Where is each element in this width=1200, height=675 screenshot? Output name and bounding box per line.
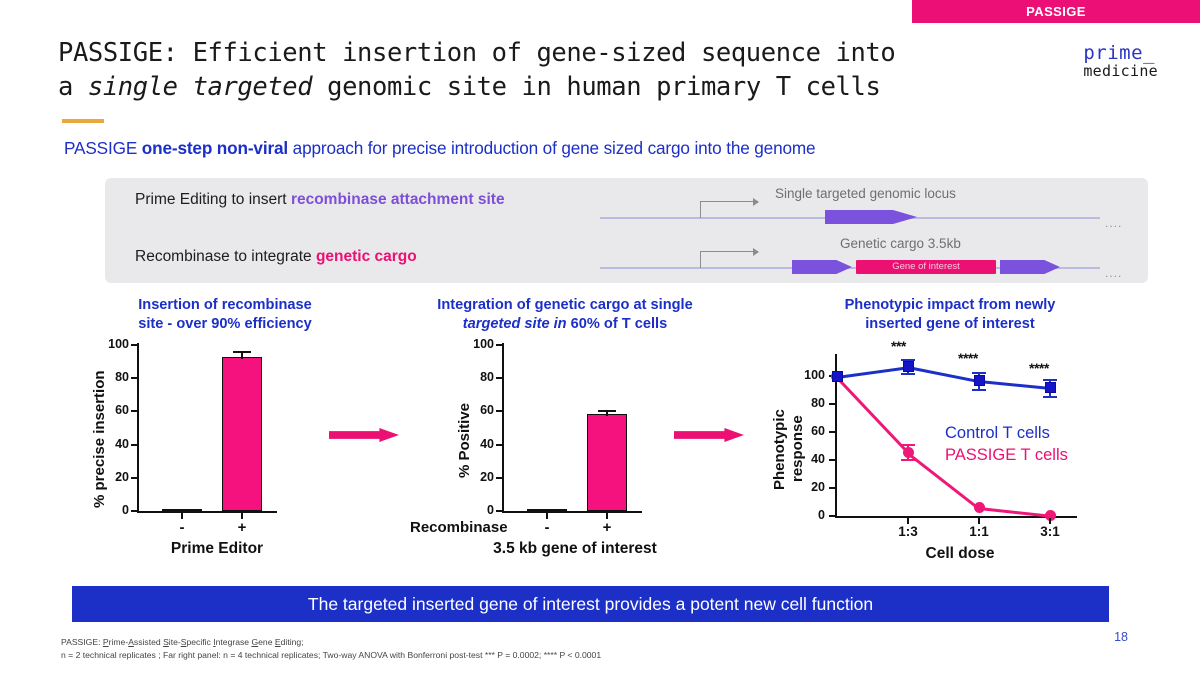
panel-row-1-prefix: Prime Editing to insert: [135, 191, 291, 208]
chart-1-ytick: [131, 410, 137, 412]
panel-row-2-keyword: genetic cargo: [316, 248, 417, 265]
subtitle: PASSIGE one-step non-viral approach for …: [64, 138, 1144, 159]
diagram-bottom-ellipsis: ....: [1105, 266, 1122, 280]
panel-row-1-text: Prime Editing to insert recombinase atta…: [135, 190, 555, 210]
chart-2-xtick-label: +: [587, 519, 627, 536]
chart-3-title-line-1: Phenotypic impact from newly: [795, 296, 1105, 315]
diagram-top-label: Single targeted genomic locus: [775, 186, 956, 201]
summary-banner-text: The targeted inserted gene of interest p…: [308, 594, 873, 615]
chart-3-passige-errorbar-cap: [901, 444, 915, 446]
chart-1-y-axis-label: % precise insertion: [91, 370, 108, 508]
footnote-text: rime-: [109, 637, 129, 647]
prime-medicine-logo: prime_ medicine: [1083, 44, 1158, 80]
chart-2-y-axis-label: % Positive: [456, 403, 473, 478]
chart-3-y-axis-label-line-1: Phenotypic: [771, 409, 788, 490]
footnote-text: diting;: [281, 637, 304, 647]
chart-3-passige-errorbar-cap: [901, 459, 915, 461]
chart-2-bar-plus: [587, 414, 627, 511]
chart-3-passige-point: [974, 502, 985, 513]
chart-3-line-phenotypic-response: 100 80 60 40 20 0 Phenotypic response **…: [775, 330, 1115, 560]
footnote-line-2: n = 2 technical replicates ; Far right p…: [61, 649, 961, 662]
chart-1-ytick-label: 100: [89, 337, 129, 351]
chart-1-errorbar-cap: [233, 351, 251, 353]
logo-line-medicine: medicine: [1083, 64, 1158, 80]
diagram-bottom-label: Genetic cargo 3.5kb: [840, 236, 961, 251]
attachment-site-left-arrow-icon: [792, 260, 852, 274]
footnote-text: ene: [258, 637, 275, 647]
footnote-text: ssisted: [134, 637, 163, 647]
chart-1-ytick: [131, 510, 137, 512]
chart-1-bar-precise-insertion: 100 80 60 40 20 0 % precise insertion - …: [95, 330, 345, 560]
chart-2-ytick-label: 100: [454, 337, 494, 351]
diagram-genetic-cargo: Genetic cargo 3.5kb Gene of interest ...…: [600, 234, 1145, 282]
chart-3-control-point: [903, 361, 914, 372]
chart-1-xtick-label: -: [162, 519, 202, 536]
chart-3-x-axis-caption: Cell dose: [880, 545, 1040, 563]
chart-2-title-line-1: Integration of genetic cargo at single: [404, 296, 726, 315]
title-divider-rule: [62, 119, 104, 123]
chart-1-ytick: [131, 377, 137, 379]
chart-2-y-axis: [502, 343, 504, 513]
chart-3-control-errorbar-cap: [972, 389, 986, 391]
panel-row-2-text: Recombinase to integrate genetic cargo: [135, 248, 595, 266]
panel-row-2-prefix: Recombinase to integrate: [135, 248, 316, 265]
chart-1-xtick-label: +: [222, 519, 262, 536]
chart-2-ytick: [496, 477, 502, 479]
chart-2-x-axis-caption: 3.5 kb gene of interest: [450, 540, 700, 558]
chart-2-ytick: [496, 444, 502, 446]
footnote-line-1: PASSIGE: Prime-Assisted Site-Specific In…: [61, 636, 961, 649]
diagram-top-ellipsis: ....: [1105, 216, 1122, 230]
chart-3-control-errorbar-cap: [901, 373, 915, 375]
transcription-start-arrow-icon-2: [700, 251, 758, 268]
chart-2-title: Integration of genetic cargo at single t…: [404, 296, 726, 334]
chart-3-ytick: [829, 487, 835, 489]
chart-3-control-errorbar-cap: [972, 372, 986, 374]
chart-3-control-segment: [837, 366, 908, 378]
chart-2-ytick: [496, 510, 502, 512]
attachment-site-right-arrow-icon: [1000, 260, 1060, 274]
subtitle-highlight: one-step non-viral: [142, 138, 288, 158]
header-tag-label: PASSIGE: [1026, 4, 1086, 19]
chart-3-control-point: [832, 371, 843, 382]
chart-2-ytick: [496, 377, 502, 379]
chart-2-ytick-label: 0: [454, 503, 494, 517]
chart-1-bar-minus: [162, 509, 202, 511]
chart-3-ytick-label: 100: [785, 368, 825, 382]
chart-1-title: Insertion of recombinase site - over 90%…: [90, 296, 360, 334]
attachment-site-arrow-icon: [825, 210, 917, 224]
chart-3-passige-point: [903, 447, 914, 458]
chart-3-ytick: [829, 515, 835, 517]
chart-3-control-errorbar-cap: [1043, 396, 1057, 398]
chart-3-control-segment: [979, 380, 1050, 390]
title-line-2-a: a: [58, 72, 88, 102]
chart-3-y-axis-label-line-2: response: [789, 415, 806, 482]
chart-2-ytick: [496, 344, 502, 346]
footnote-text: pecific: [186, 637, 213, 647]
title-line-1: PASSIGE: Efficient insertion of gene-siz…: [58, 36, 1018, 70]
footnote: PASSIGE: Prime-Assisted Site-Specific In…: [61, 636, 961, 663]
chart-2-bar-percent-positive: 100 80 60 40 20 0 % Positive - + Recombi…: [460, 330, 710, 560]
chart-3-xtick-label: 1:1: [954, 524, 1004, 539]
footnote-text: ntegrase: [216, 637, 252, 647]
chart-3-control-point: [1045, 382, 1056, 393]
chart-3-legend-passige: PASSIGE T cells: [945, 446, 1068, 465]
logo-line-prime: prime_: [1083, 44, 1158, 64]
chart-3-title: Phenotypic impact from newly inserted ge…: [795, 296, 1105, 334]
chart-2-x-axis: [502, 511, 642, 513]
subtitle-post: approach for precise introduction of gen…: [288, 138, 815, 158]
gene-of-interest-block: Gene of interest: [856, 260, 996, 274]
chart-3-legend-control: Control T cells: [945, 424, 1050, 443]
chart-3-xtick-label: 1:3: [883, 524, 933, 539]
chart-1-ytick: [131, 444, 137, 446]
chart-2-xtick-label: -: [527, 519, 567, 536]
passige-header-tag: PASSIGE: [912, 0, 1200, 23]
chart-3-ytick-label: 20: [785, 480, 825, 494]
footnote-acronym-prefix: PASSIGE:: [61, 637, 103, 647]
chart-2-ytick-label: 80: [454, 370, 494, 384]
chart-1-title-line-1: Insertion of recombinase: [90, 296, 360, 315]
mechanism-panel: Prime Editing to insert recombinase atta…: [105, 178, 1148, 283]
title-line-2: a single targeted genomic site in human …: [58, 70, 1018, 104]
chart-3-control-point: [974, 375, 985, 386]
diagram-genomic-locus: Single targeted genomic locus ....: [600, 184, 1145, 232]
chart-1-ytick: [131, 344, 137, 346]
chart-1-bar-plus: [222, 357, 262, 511]
chart-1-ytick: [131, 477, 137, 479]
chart-3-control-errorbar-cap: [1043, 379, 1057, 381]
chart-3-significance-marker: ***: [891, 338, 906, 354]
chart-3-significance-marker: ****: [1029, 360, 1049, 376]
chart-3-ytick-label: 80: [785, 396, 825, 410]
chart-3-control-segment: [908, 366, 979, 382]
chart-3-passige-segment: [836, 376, 910, 454]
chart-3-ytick: [829, 431, 835, 433]
chart-2-x-group-label: Recombinase: [410, 519, 520, 536]
chart-3-ytick-label: 0: [785, 508, 825, 522]
chart-1-y-axis: [137, 343, 139, 513]
chart-2-errorbar-cap: [598, 410, 616, 412]
chart-1-x-axis: [137, 511, 277, 513]
page-number: 18: [1114, 630, 1128, 644]
subtitle-pre: PASSIGE: [64, 138, 142, 158]
footnote-text: ite-: [169, 637, 181, 647]
chart-3-xtick-label: 3:1: [1025, 524, 1075, 539]
panel-row-1-keyword: recombinase attachment site: [291, 191, 505, 208]
chart-2-bar-minus: [527, 509, 567, 511]
title-line-2-b: genomic site in human primary T cells: [312, 72, 880, 102]
page-title: PASSIGE: Efficient insertion of gene-siz…: [58, 36, 1018, 104]
chart-3-ytick: [829, 403, 835, 405]
chart-3-ytick: [829, 459, 835, 461]
chart-2-ytick: [496, 410, 502, 412]
title-line-2-emphasis: single targeted: [88, 72, 312, 102]
chart-1-x-axis-caption: Prime Editor: [117, 540, 317, 558]
chart-3-significance-marker: ****: [958, 350, 978, 366]
transcription-start-arrow-icon: [700, 201, 758, 218]
summary-banner: The targeted inserted gene of interest p…: [72, 586, 1109, 622]
